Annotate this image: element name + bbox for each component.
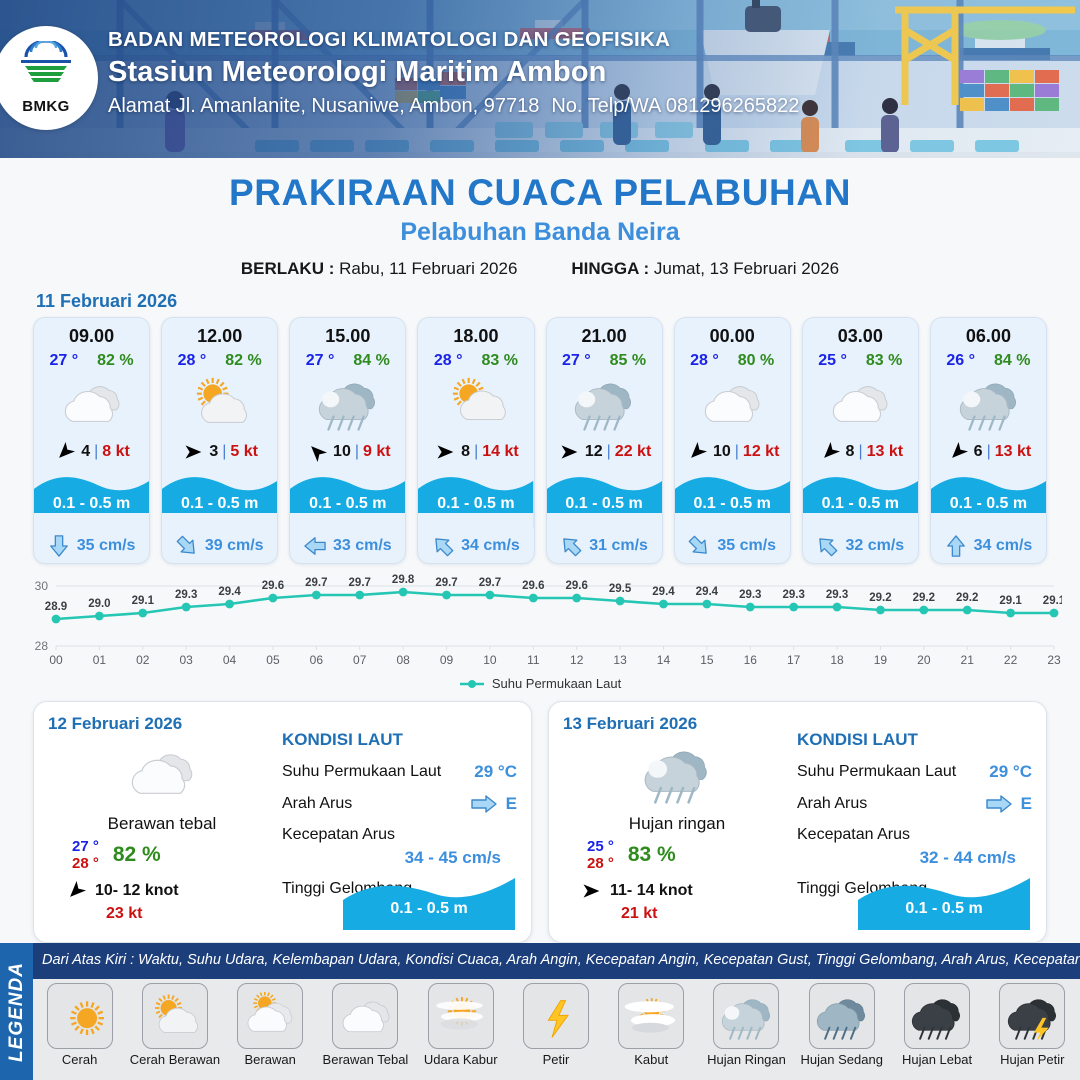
current-row: 31 cm/s	[547, 529, 662, 563]
wind-speed: 3	[209, 443, 218, 461]
forecast-date-label: 11 Februari 2026	[36, 291, 1080, 312]
svg-text:29.2: 29.2	[869, 592, 891, 604]
panel-wind-row: 11- 14 knot	[563, 881, 791, 901]
chart-legend: Suhu Permukaan Laut	[0, 676, 1080, 691]
weather-icon-berawan-tebal	[56, 375, 128, 431]
daily-summary-row: 12 Februari 2026 Berawan tebal 27 ° 28 °…	[0, 691, 1080, 943]
temp-humidity-row: 28 ° 82 %	[162, 352, 277, 370]
wind-row: 8 | 14 kt	[418, 439, 533, 465]
forecast-time: 15.00	[290, 326, 405, 347]
humidity: 82 %	[225, 352, 261, 370]
svg-text:29.7: 29.7	[479, 577, 501, 589]
current-speed: 32 cm/s	[845, 537, 904, 555]
wave-height-band: 0.1 - 0.5 m	[34, 467, 149, 529]
svg-text:11: 11	[527, 653, 540, 667]
svg-text:29.0: 29.0	[88, 598, 110, 610]
wind-gust: 22 kt	[615, 443, 651, 461]
valid-to-value: Jumat, 13 Februari 2026	[654, 259, 839, 278]
page-title: PRAKIRAAN CUACA PELABUHAN	[0, 172, 1080, 214]
forecast-card: 21.00 27 ° 85 % 12 | 22 kt	[546, 317, 663, 564]
forecast-card: 03.00 25 ° 83 % 8 | 13 kt 0.1 - 0.5 m 32…	[802, 317, 919, 564]
wind-gust: 13 kt	[995, 443, 1031, 461]
svg-text:12: 12	[570, 653, 584, 667]
svg-text:29.7: 29.7	[435, 577, 457, 589]
forecast-card: 06.00 26 ° 84 % 6 | 13 kt	[930, 317, 1047, 564]
forecast-card: 00.00 28 ° 80 % 10 | 12 kt 0.1 - 0.5 m 3…	[674, 317, 791, 564]
weather-condition-icon	[547, 372, 662, 434]
wind-separator: |	[735, 443, 739, 461]
weather-icon-berawan	[239, 992, 300, 1040]
current-direction-arrow-nw	[432, 534, 454, 558]
sst-row: Suhu Permukaan Laut 29 °C	[797, 762, 1032, 782]
legend-item-label: Berawan Tebal	[323, 1052, 409, 1067]
wind-row: 4 | 8 kt	[34, 439, 149, 465]
wave-height: 0.1 - 0.5 m	[547, 495, 662, 513]
svg-text:29.5: 29.5	[609, 583, 632, 595]
current-direction-arrow-nw	[560, 534, 582, 558]
legend-item-label: Udara Kabur	[424, 1052, 498, 1067]
panel-date: 13 Februari 2026	[563, 714, 791, 734]
svg-text:03: 03	[179, 653, 193, 667]
legend-item-label: Hujan Ringan	[707, 1052, 786, 1067]
legend-item: Hujan Lebat	[893, 983, 980, 1077]
current-speed: 39 cm/s	[205, 537, 264, 555]
legend-icon-box	[142, 983, 208, 1049]
temp-humidity-row: 27 ° 82 %	[34, 352, 149, 370]
svg-text:30: 30	[35, 579, 49, 593]
weather-condition-icon	[931, 372, 1046, 434]
wind-separator: |	[474, 443, 478, 461]
forecast-card: 18.00 28 ° 83 % 8 | 14 kt 0.1 - 0.5 m 34…	[417, 317, 534, 564]
svg-text:19: 19	[874, 653, 888, 667]
sst-value: 29 °C	[989, 762, 1032, 782]
current-speed: 34 cm/s	[974, 537, 1033, 555]
svg-text:28.9: 28.9	[45, 601, 67, 613]
svg-text:29.6: 29.6	[566, 580, 588, 592]
wind-row: 8 | 13 kt	[803, 439, 918, 465]
station-name: Stasiun Meteorologi Maritim Ambon	[108, 56, 799, 89]
wind-direction-arrow-sw	[946, 442, 970, 462]
legend-icon-box	[904, 983, 970, 1049]
current-row: 39 cm/s	[162, 529, 277, 563]
panel-condition: Hujan ringan	[563, 814, 791, 834]
forecast-card: 09.00 27 ° 82 % 4 | 8 kt 0.1 - 0.5 m 35 …	[33, 317, 150, 564]
svg-text:05: 05	[266, 653, 280, 667]
wind-gust: 8 kt	[102, 443, 130, 461]
panel-weather-icon	[563, 736, 791, 810]
temp-humidity-row: 28 ° 83 %	[418, 352, 533, 370]
wind-direction-arrow-sw	[685, 442, 709, 462]
page-header: BMKG BADAN METEOROLOGI KLIMATOLOGI DAN G…	[0, 0, 1080, 158]
sst-label: Suhu Permukaan Laut	[282, 763, 474, 781]
legend-icon-box	[618, 983, 684, 1049]
weather-icon-hujan-ringan	[312, 375, 384, 431]
legend-icon-box	[237, 983, 303, 1049]
sst-chart: 283028.90029.00129.10229.30329.40429.605…	[18, 574, 1062, 674]
panel-wind-gust: 21 kt	[563, 905, 791, 923]
title-block: PRAKIRAAN CUACA PELABUHAN Pelabuhan Band…	[0, 172, 1080, 279]
svg-text:10: 10	[483, 653, 497, 667]
weather-icon-berawan-tebal	[696, 375, 768, 431]
svg-text:20: 20	[917, 653, 931, 667]
wind-separator: |	[858, 443, 862, 461]
panel-left: 12 Februari 2026 Berawan tebal 27 ° 28 °…	[48, 714, 276, 932]
current-speed: 35 cm/s	[77, 537, 136, 555]
current-row: 35 cm/s	[34, 529, 149, 563]
panel-right: KONDISI LAUT Suhu Permukaan Laut 29 °C A…	[791, 714, 1032, 932]
current-row: 34 cm/s	[418, 529, 533, 563]
wind-direction-arrow-sw	[64, 881, 88, 901]
weather-icon-hujan-ringan	[953, 375, 1025, 431]
forecast-card: 15.00 27 ° 84 % 10 | 9 kt	[289, 317, 406, 564]
wind-speed: 8	[461, 443, 470, 461]
current-speed: 34 cm/s	[461, 537, 520, 555]
temp-humidity-row: 28 ° 80 %	[675, 352, 790, 370]
current-row: 35 cm/s	[675, 529, 790, 563]
panel-temp-max: 28 °	[72, 855, 99, 872]
weather-icon-hujan-lebat	[906, 992, 967, 1040]
svg-text:29.4: 29.4	[696, 586, 719, 598]
wind-speed: 10	[713, 443, 731, 461]
weather-icon-hujan-sedang	[811, 992, 872, 1040]
air-temperature: 27 °	[562, 352, 591, 370]
svg-text:29.3: 29.3	[782, 589, 804, 601]
svg-text:08: 08	[396, 653, 410, 667]
svg-text:29.6: 29.6	[262, 580, 284, 592]
weather-icon-hujan-ringan	[568, 375, 640, 431]
wave-height: 0.1 - 0.5 m	[803, 495, 918, 513]
legend-item-label: Berawan	[245, 1052, 296, 1067]
panel-humidity: 83 %	[628, 843, 676, 867]
air-temperature: 28 °	[690, 352, 719, 370]
svg-text:06: 06	[310, 653, 324, 667]
wind-speed: 12	[585, 443, 603, 461]
forecast-time: 21.00	[547, 326, 662, 347]
panel-temp-max: 28 °	[587, 855, 614, 872]
wave-height: 0.1 - 0.5 m	[418, 495, 533, 513]
wave-height-band: 0.1 - 0.5 m	[931, 467, 1046, 529]
current-row: 34 cm/s	[931, 529, 1046, 563]
wave-height: 0.1 - 0.5 m	[931, 495, 1046, 513]
weather-condition-icon	[34, 372, 149, 434]
legend-item: Hujan Ringan	[703, 983, 790, 1077]
wave-height: 0.1 - 0.5 m	[34, 495, 149, 513]
panel-right: KONDISI LAUT Suhu Permukaan Laut 29 °C A…	[276, 714, 517, 932]
humidity: 84 %	[353, 352, 389, 370]
daily-summary-panel: 12 Februari 2026 Berawan tebal 27 ° 28 °…	[33, 701, 532, 943]
air-temperature: 28 °	[178, 352, 207, 370]
panel-temp-block: 25 ° 28 ° 83 %	[563, 838, 791, 873]
weather-icon-kabut	[621, 992, 682, 1040]
wind-direction-arrow-e	[557, 442, 581, 462]
forecast-time: 00.00	[675, 326, 790, 347]
svg-text:18: 18	[830, 653, 844, 667]
humidity: 83 %	[866, 352, 902, 370]
svg-text:13: 13	[613, 653, 627, 667]
panel-condition: Berawan tebal	[48, 814, 276, 834]
wave-height-band: 0.1 - 0.5 m	[547, 467, 662, 529]
svg-text:29.1: 29.1	[1043, 595, 1062, 607]
svg-text:04: 04	[223, 653, 237, 667]
svg-text:29.3: 29.3	[826, 589, 848, 601]
wave-height: 0.1 - 0.5 m	[675, 495, 790, 513]
legend-icon-box	[428, 983, 494, 1049]
legend-item: Kabut	[608, 983, 695, 1077]
weather-icon-cerah-berawan	[184, 375, 256, 431]
wave-height-band: 0.1 - 0.5 m	[162, 467, 277, 529]
legend-item: Cerah	[36, 983, 123, 1077]
chart-legend-label: Suhu Permukaan Laut	[492, 676, 621, 691]
legend-item: Cerah Berawan	[131, 983, 218, 1077]
panel-temps: 25 ° 28 °	[587, 838, 614, 873]
wind-direction-arrow-nw	[305, 442, 329, 462]
current-speed-label: Kecepatan Arus	[282, 826, 517, 844]
svg-text:29.3: 29.3	[739, 589, 761, 601]
current-direction-row: Arah Arus E	[797, 794, 1032, 814]
temp-humidity-row: 26 ° 84 %	[931, 352, 1046, 370]
svg-text:29.3: 29.3	[175, 589, 197, 601]
svg-text:28: 28	[35, 639, 49, 653]
svg-text:01: 01	[93, 653, 107, 667]
wind-separator: |	[222, 443, 226, 461]
wind-row: 10 | 12 kt	[675, 439, 790, 465]
weather-condition-icon	[418, 372, 533, 434]
legend-item-label: Hujan Petir	[1000, 1052, 1064, 1067]
panel-wave-graphic: 0.1 - 0.5 m	[858, 874, 1030, 930]
weather-condition-icon	[803, 372, 918, 434]
current-direction-row: Arah Arus E	[282, 794, 517, 814]
current-speed-value: 32 - 44 cm/s	[797, 848, 1032, 868]
temp-humidity-row: 27 ° 85 %	[547, 352, 662, 370]
weather-icon-berawan-tebal	[335, 992, 396, 1040]
sst-row: Suhu Permukaan Laut 29 °C	[282, 762, 517, 782]
legend-section: Dari Atas Kiri : Waktu, Suhu Udara, Kele…	[0, 943, 1080, 1080]
legend-icon-row: Cerah Cerah Berawan Berawan Berawan Teba…	[36, 983, 1076, 1077]
current-speed-row: Kecepatan Arus	[282, 826, 517, 844]
svg-text:29.1: 29.1	[132, 595, 155, 607]
legend-note-text: Dari Atas Kiri : Waktu, Suhu Udara, Kele…	[42, 952, 1080, 968]
wind-gust: 14 kt	[482, 443, 518, 461]
weather-icon-cerah-berawan	[144, 992, 205, 1040]
current-direction-arrow-w	[304, 534, 326, 558]
svg-text:21: 21	[961, 653, 975, 667]
svg-text:00: 00	[49, 653, 63, 667]
weather-icon-cerah	[49, 992, 110, 1040]
humidity: 82 %	[97, 352, 133, 370]
panel-date: 12 Februari 2026	[48, 714, 276, 734]
validity-row: BERLAKU : Rabu, 11 Februari 2026 HINGGA …	[0, 259, 1080, 279]
legend-tab-label: LEGENDA	[6, 962, 28, 1062]
legend-item-label: Kabut	[634, 1052, 668, 1067]
panel-wind-row: 10- 12 knot	[48, 881, 276, 901]
legend-item: Petir	[512, 983, 599, 1077]
svg-text:29.2: 29.2	[913, 592, 935, 604]
wind-gust: 13 kt	[867, 443, 903, 461]
temp-humidity-row: 25 ° 83 %	[803, 352, 918, 370]
legend-item: Berawan Tebal	[322, 983, 409, 1077]
svg-text:22: 22	[1004, 653, 1018, 667]
forecast-card: 12.00 28 ° 82 % 3 | 5 kt 0.1 - 0.5 m 39 …	[161, 317, 278, 564]
humidity: 83 %	[482, 352, 518, 370]
wave-height: 0.1 - 0.5 m	[290, 495, 405, 513]
current-row: 32 cm/s	[803, 529, 918, 563]
wind-speed: 8	[846, 443, 855, 461]
current-direction-label: Arah Arus	[797, 795, 985, 813]
svg-text:29.7: 29.7	[349, 577, 371, 589]
svg-text:29.7: 29.7	[305, 577, 327, 589]
current-direction-value-group: E	[985, 794, 1032, 814]
station-phone: No. Telp/WA 081296265822	[551, 95, 799, 117]
panel-wind-speed: 10- 12 knot	[95, 882, 179, 900]
wind-direction-arrow-sw	[53, 442, 77, 462]
current-speed: 31 cm/s	[589, 537, 648, 555]
bmkg-emblem-icon	[15, 41, 77, 97]
svg-text:09: 09	[440, 653, 454, 667]
air-temperature: 27 °	[306, 352, 335, 370]
panel-temp-min: 25 °	[587, 838, 614, 855]
legend-item-label: Petir	[543, 1052, 570, 1067]
legend-line-icon	[459, 678, 485, 690]
panel-weather-icon	[48, 736, 276, 810]
wind-gust: 12 kt	[743, 443, 779, 461]
current-direction-label: Arah Arus	[282, 795, 470, 813]
legend-item: Berawan	[227, 983, 314, 1077]
current-speed: 35 cm/s	[717, 537, 776, 555]
sst-label: Suhu Permukaan Laut	[797, 763, 989, 781]
legend-note-bar: Dari Atas Kiri : Waktu, Suhu Udara, Kele…	[0, 943, 1080, 979]
panel-left: 13 Februari 2026 Hujan ringan 25 ° 28 ° …	[563, 714, 791, 932]
svg-text:29.2: 29.2	[956, 592, 978, 604]
wave-height-band: 0.1 - 0.5 m	[803, 467, 918, 529]
svg-text:14: 14	[657, 653, 671, 667]
valid-from: BERLAKU : Rabu, 11 Februari 2026	[241, 259, 518, 279]
wave-height: 0.1 - 0.5 m	[162, 495, 277, 513]
air-temperature: 28 °	[434, 352, 463, 370]
panel-wave-value: 0.1 - 0.5 m	[858, 900, 1030, 918]
panel-temps: 27 ° 28 °	[72, 838, 99, 873]
current-direction-value: E	[1021, 794, 1032, 814]
weather-icon-hujan-ringan	[716, 992, 777, 1040]
panel-wind-gust: 23 kt	[48, 905, 276, 923]
legend-icon-box	[999, 983, 1065, 1049]
panel-humidity: 82 %	[113, 843, 161, 867]
wind-row: 12 | 22 kt	[547, 439, 662, 465]
legend-item-label: Cerah	[62, 1052, 97, 1067]
weather-icon-petir	[525, 992, 586, 1040]
air-temperature: 26 °	[946, 352, 975, 370]
humidity: 85 %	[610, 352, 646, 370]
weather-condition-icon	[290, 372, 405, 434]
current-direction-arrow-se	[176, 534, 198, 558]
wave-height-band: 0.1 - 0.5 m	[418, 467, 533, 529]
humidity: 84 %	[994, 352, 1030, 370]
legend-item-label: Cerah Berawan	[130, 1052, 220, 1067]
wind-speed: 4	[81, 443, 90, 461]
wind-direction-arrow-e	[579, 881, 603, 901]
weather-icon-berawan-tebal	[122, 742, 201, 804]
sea-condition-title: KONDISI LAUT	[282, 730, 517, 750]
wind-direction-arrow-sw	[818, 442, 842, 462]
forecast-time: 12.00	[162, 326, 277, 347]
forecast-time: 06.00	[931, 326, 1046, 347]
forecast-time: 09.00	[34, 326, 149, 347]
svg-text:29.8: 29.8	[392, 574, 415, 586]
valid-from-value: Rabu, 11 Februari 2026	[339, 259, 517, 278]
forecast-time: 03.00	[803, 326, 918, 347]
wind-separator: |	[94, 443, 98, 461]
weather-icon-hujan-petir	[1002, 992, 1063, 1040]
svg-text:29.4: 29.4	[652, 586, 675, 598]
wave-height-band: 0.1 - 0.5 m	[290, 467, 405, 529]
current-row: 33 cm/s	[290, 529, 405, 563]
wind-separator: |	[987, 443, 991, 461]
svg-text:29.6: 29.6	[522, 580, 544, 592]
legend-icon-box	[809, 983, 875, 1049]
current-speed: 33 cm/s	[333, 537, 392, 555]
bmkg-logo-text: BMKG	[22, 98, 69, 115]
legend-tab: LEGENDA	[0, 943, 33, 1080]
panel-wind-speed: 11- 14 knot	[610, 882, 693, 900]
header-text-block: BADAN METEOROLOGI KLIMATOLOGI DAN GEOFIS…	[108, 28, 799, 118]
current-direction-arrow-nw	[816, 534, 838, 558]
svg-text:23: 23	[1047, 653, 1061, 667]
wind-row: 10 | 9 kt	[290, 439, 405, 465]
humidity: 80 %	[738, 352, 774, 370]
temp-humidity-row: 27 ° 84 %	[290, 352, 405, 370]
wind-row: 6 | 13 kt	[931, 439, 1046, 465]
legend-item: Udara Kabur	[417, 983, 504, 1077]
air-temperature: 25 °	[818, 352, 847, 370]
panel-wave-graphic: 0.1 - 0.5 m	[343, 874, 515, 930]
current-direction-arrow-s	[48, 534, 70, 558]
panel-temp-min: 27 °	[72, 838, 99, 855]
weather-condition-icon	[675, 372, 790, 434]
contact-line: Alamat Jl. Amanlanite, Nusaniwe, Ambon, …	[108, 95, 799, 118]
wind-gust: 9 kt	[363, 443, 391, 461]
weather-icon-cerah-berawan2	[440, 375, 512, 431]
sst-chart-svg: 283028.90029.00129.10229.30329.40429.605…	[18, 574, 1062, 674]
svg-text:29.4: 29.4	[218, 586, 241, 598]
weather-icon-udara-kabur	[430, 992, 491, 1040]
legend-item-label: Hujan Lebat	[902, 1052, 972, 1067]
legend-item: Hujan Petir	[989, 983, 1076, 1077]
svg-text:17: 17	[787, 653, 801, 667]
legend-item-label: Hujan Sedang	[801, 1052, 883, 1067]
station-address: Alamat Jl. Amanlanite, Nusaniwe, Ambon, …	[108, 95, 539, 117]
current-direction-arrow-se	[688, 534, 710, 558]
current-direction-arrow-n	[945, 534, 967, 558]
hourly-forecast-row: 09.00 27 ° 82 % 4 | 8 kt 0.1 - 0.5 m 35 …	[0, 317, 1080, 564]
wind-speed: 10	[333, 443, 351, 461]
current-direction-value: E	[506, 794, 517, 814]
current-direction-value-group: E	[470, 794, 517, 814]
current-direction-arrow-e	[470, 794, 498, 814]
sst-value: 29 °C	[474, 762, 517, 782]
legend-item: Hujan Sedang	[798, 983, 885, 1077]
svg-text:16: 16	[744, 653, 758, 667]
wind-row: 3 | 5 kt	[162, 439, 277, 465]
weather-condition-icon	[162, 372, 277, 434]
legend-icon-box	[523, 983, 589, 1049]
agency-name: BADAN METEOROLOGI KLIMATOLOGI DAN GEOFIS…	[108, 28, 799, 52]
port-name: Pelabuhan Banda Neira	[0, 218, 1080, 247]
valid-from-label: BERLAKU :	[241, 259, 335, 278]
current-speed-label: Kecepatan Arus	[797, 826, 1032, 844]
wave-height-band: 0.1 - 0.5 m	[675, 467, 790, 529]
forecast-time: 18.00	[418, 326, 533, 347]
wind-separator: |	[607, 443, 611, 461]
panel-wave-value: 0.1 - 0.5 m	[343, 900, 515, 918]
